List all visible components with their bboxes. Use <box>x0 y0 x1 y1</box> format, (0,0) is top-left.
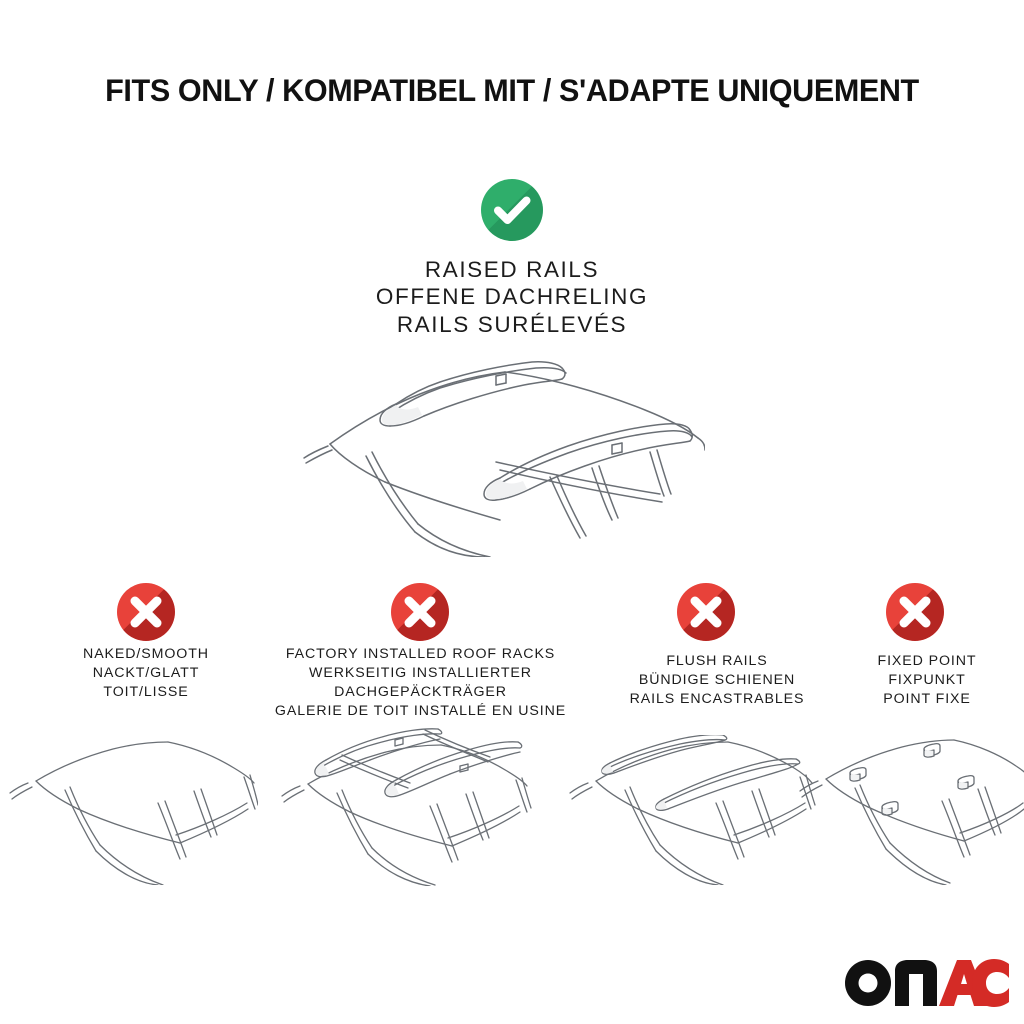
naked-smooth-label: NAKED/SMOOTH NACKT/GLATT TOIT/LISSE <box>26 645 266 702</box>
car-roof-fixed-point-illustration <box>796 733 1024 885</box>
car-roof-naked-illustration <box>8 735 258 885</box>
factory-installed-roof-racks-label: FACTORY INSTALLED ROOF RACKS WERKSEITIG … <box>258 645 583 721</box>
check-circle-icon <box>481 179 543 241</box>
x-circle-icon <box>117 583 175 641</box>
car-roof-raised-rails-illustration <box>300 352 705 557</box>
omac-logo <box>845 958 1009 1008</box>
logo-letter-m <box>895 960 937 1006</box>
flush-rails-label: FLUSH RAILS BÜNDIGE SCHIENEN RAILS ENCAS… <box>593 652 841 709</box>
fixed-point-label: FIXED POINT FIXPUNKT POINT FIXE <box>832 652 1022 709</box>
x-circle-icon <box>391 583 449 641</box>
fitment-infographic: FITS ONLY / KOMPATIBEL MIT / S'ADAPTE UN… <box>0 0 1024 1024</box>
car-roof-flush-rails-illustration <box>568 735 816 885</box>
page-title: FITS ONLY / KOMPATIBEL MIT / S'ADAPTE UN… <box>15 72 1008 109</box>
raised-rails-label: RAISED RAILS OFFENE DACHRELING RAILS SUR… <box>262 256 762 338</box>
x-circle-icon <box>677 583 735 641</box>
logo-letter-o <box>845 960 891 1006</box>
x-circle-icon <box>886 583 944 641</box>
car-roof-factory-racks-illustration <box>278 728 546 886</box>
